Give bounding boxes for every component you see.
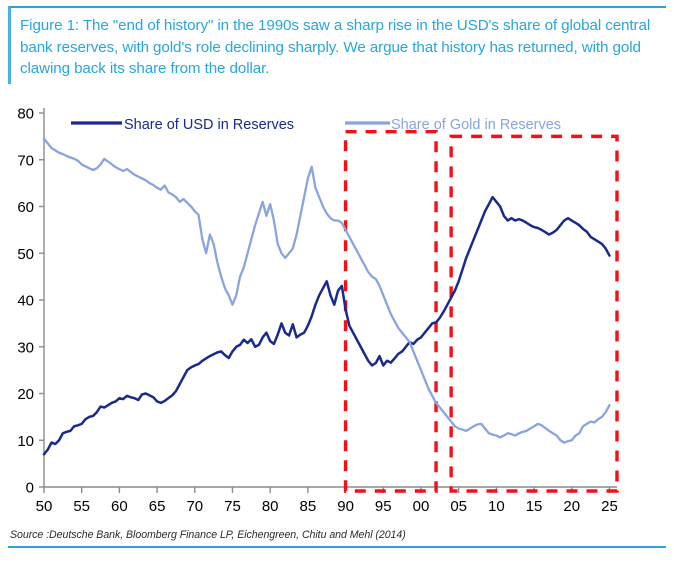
x-tick-label: 60 [111,498,128,515]
y-tick-label: 80 [17,106,34,123]
y-tick-label: 20 [17,386,34,403]
legend-label-gold: Share of Gold in Reserves [391,117,561,133]
y-tick-label: 30 [17,339,34,356]
highlight-box-2018plus [451,136,617,491]
chart-plot-area: 0102030405060708050556065707580859095000… [0,95,674,520]
x-tick-label: 55 [73,498,90,515]
y-tick-label: 40 [17,293,34,310]
x-tick-label: 00 [413,498,430,515]
figure-container: Figure 1: The "end of history" in the 19… [0,0,674,570]
x-tick-label: 20 [563,498,580,515]
x-tick-label: 05 [450,498,467,515]
x-tick-label: 90 [337,498,354,515]
source-note: Source :Deutsche Bank, Bloomberg Finance… [10,529,666,541]
x-tick-label: 70 [186,498,203,515]
x-tick-label: 15 [526,498,543,515]
y-tick-label: 50 [17,246,34,263]
x-tick-label: 85 [300,498,317,515]
x-tick-label: 75 [224,498,241,515]
y-tick-label: 10 [17,433,34,450]
x-tick-label: 95 [375,498,392,515]
y-tick-label: 60 [17,199,34,216]
y-tick-label: 70 [17,152,34,169]
x-tick-label: 80 [262,498,279,515]
legend-label-usd: Share of USD in Reserves [124,117,294,133]
figure-source-block: Source :Deutsche Bank, Bloomberg Finance… [8,527,666,548]
x-tick-label: 25 [601,498,618,515]
figure-caption-text: Figure 1: The "end of history" in the 19… [20,15,658,80]
figure-caption-block: Figure 1: The "end of history" in the 19… [8,6,666,84]
reserves-share-line-chart: 0102030405060708050556065707580859095000… [0,95,674,520]
x-tick-label: 50 [36,498,53,515]
x-tick-label: 10 [488,498,505,515]
x-tick-label: 65 [149,498,166,515]
series-line-usd [44,197,609,454]
y-tick-label: 0 [26,480,34,497]
